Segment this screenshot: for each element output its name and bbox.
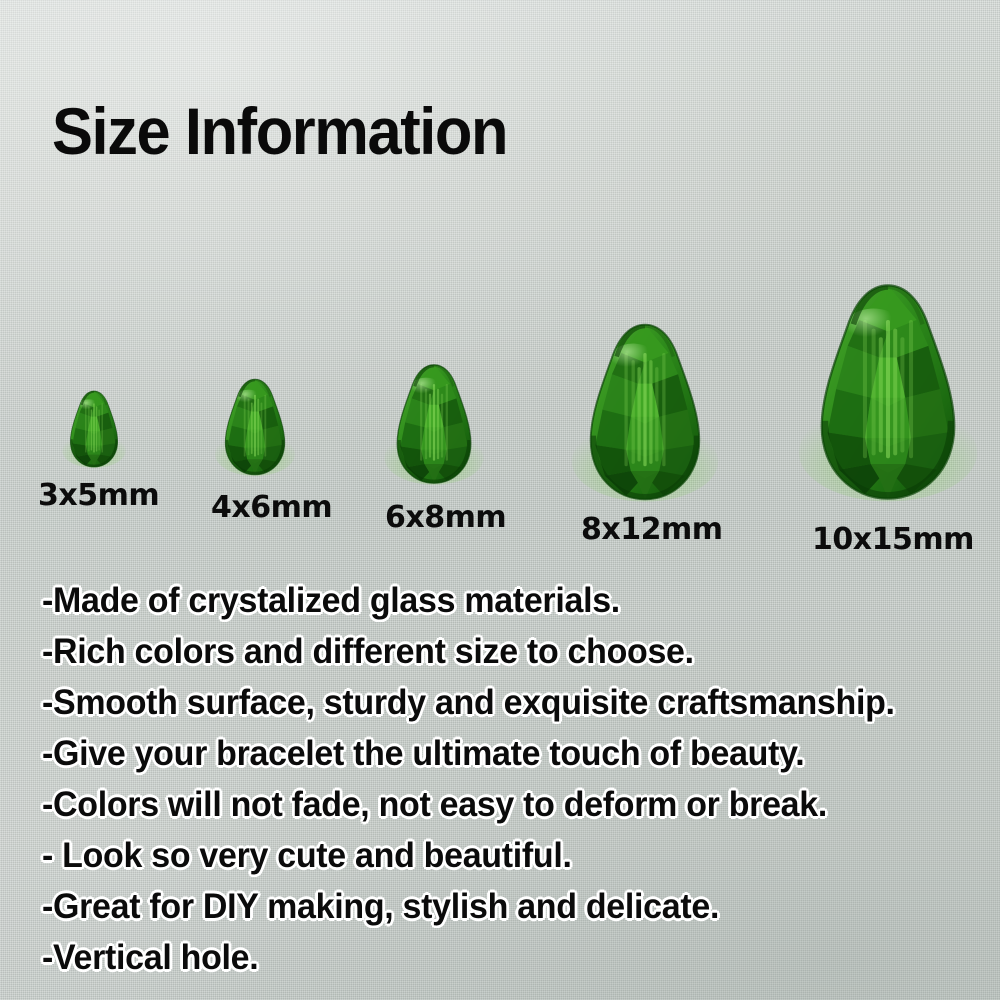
bead-size-label-4x6mm: 4x6mm <box>211 490 332 525</box>
bead-size-label-8x12mm: 8x12mm <box>581 512 723 547</box>
feature-bullet-1: -Made of crystalized glass materials. <box>42 575 973 626</box>
feature-bullet-8: -Vertical hole. <box>42 932 973 983</box>
bead-size-label-6x8mm: 6x8mm <box>385 500 506 535</box>
bead-6x8mm <box>394 362 474 486</box>
bead-4x6mm <box>222 378 288 476</box>
bead-size-label-3x5mm: 3x5mm <box>38 478 159 513</box>
feature-bullet-3: -Smooth surface, sturdy and exquisite cr… <box>42 677 973 728</box>
feature-bullet-6: - Look so very cute and beautiful. <box>42 830 973 881</box>
bead-10x15mm <box>816 282 960 502</box>
bead-8x12mm <box>586 322 704 502</box>
feature-bullet-7: -Great for DIY making, stylish and delic… <box>42 881 973 932</box>
feature-bullet-5: -Colors will not fade, not easy to defor… <box>42 779 973 830</box>
feature-bullet-list: -Made of crystalized glass materials.-Ri… <box>42 575 1000 983</box>
bead-3x5mm <box>66 390 122 468</box>
feature-bullet-4: -Give your bracelet the ultimate touch o… <box>42 728 973 779</box>
bead-size-label-10x15mm: 10x15mm <box>812 522 974 557</box>
page-title: Size Information <box>52 93 507 169</box>
product-info-image: Size Information <box>0 0 1000 1000</box>
feature-bullet-2: -Rich colors and different size to choos… <box>42 626 973 677</box>
